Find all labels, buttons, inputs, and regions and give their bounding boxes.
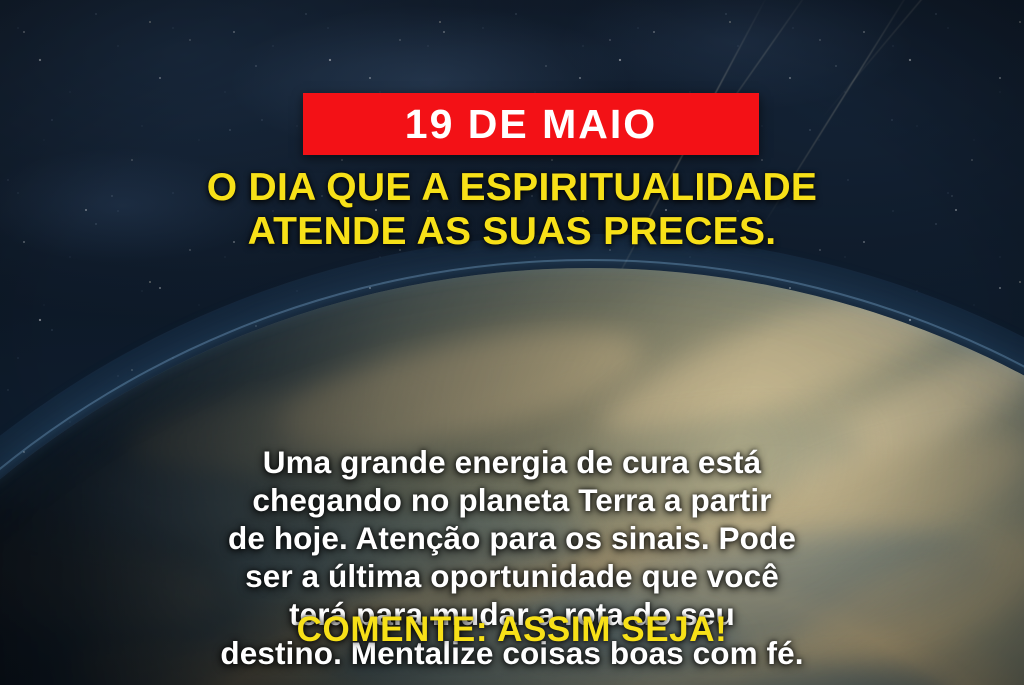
headline: O DIA QUE A ESPIRITUALIDADE ATENDE AS SU… <box>0 166 1024 253</box>
poster-canvas: 19 DE MAIO O DIA QUE A ESPIRITUALIDADE A… <box>0 0 1024 685</box>
headline-line-2: ATENDE AS SUAS PRECES. <box>40 210 984 254</box>
body-line-2: chegando no planeta Terra a partir <box>46 481 978 519</box>
body-line-4: ser a última oportunidade que você <box>46 557 978 595</box>
body-line-1: Uma grande energia de cura está <box>46 443 978 481</box>
body-line-3: de hoje. Atenção para os sinais. Pode <box>46 519 978 557</box>
headline-line-1: O DIA QUE A ESPIRITUALIDADE <box>40 166 984 210</box>
poster-content: 19 DE MAIO O DIA QUE A ESPIRITUALIDADE A… <box>0 0 1024 685</box>
call-to-action: COMENTE: ASSIM SEJA! <box>0 612 1024 647</box>
date-banner: 19 DE MAIO <box>303 93 759 155</box>
call-to-action-label: COMENTE: ASSIM SEJA! <box>297 610 728 649</box>
date-banner-label: 19 DE MAIO <box>405 104 657 145</box>
